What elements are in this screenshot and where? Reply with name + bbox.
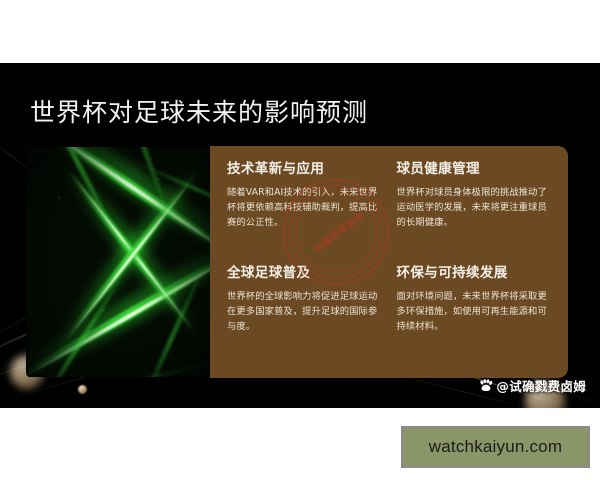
section-global: 全球足球普及 世界杯的全球影响力将促进足球运动在更多国家普及，提升足球的国际参与… — [227, 266, 385, 368]
section-body: 随着VAR和AI技术的引入，未来世界杯将更依赖高科技辅助裁判，提高比赛的公正性。 — [227, 185, 379, 230]
section-heading: 技术革新与应用 — [227, 162, 385, 177]
slide: 世界杯对足球未来的影响预测 — [0, 63, 600, 408]
sections-grid: 技术革新与应用 随着VAR和AI技术的引入，未来世界杯将更依赖高科技辅助裁判，提… — [210, 146, 568, 378]
section-body: 面对环境问题，未来世界杯将采取更多环保措施，如使用可再生能源和可持续材料。 — [397, 289, 549, 334]
url-text: watchkaiyun.com — [429, 437, 562, 457]
content-panel: 中国足球协会 技术革新与应用 随着VAR和AI技术的引入，未来世界杯将更依赖高科… — [210, 146, 568, 378]
section-sustainability: 环保与可持续发展 面对环境问题，未来世界杯将采取更多环保措施，如使用可再生能源和… — [397, 266, 555, 368]
section-heading: 环保与可持续发展 — [397, 266, 555, 281]
page-title: 世界杯对足球未来的影响预测 — [30, 93, 368, 129]
decorative-image — [26, 147, 210, 377]
handle-text: @试确戮费卤姆 — [496, 376, 586, 395]
image-vignette — [26, 147, 210, 377]
section-heading: 球员健康管理 — [397, 162, 555, 177]
section-health: 球员健康管理 世界杯对球员身体极限的挑战推动了运动医学的发展，未来将更注重球员的… — [397, 162, 555, 264]
image-content — [26, 147, 210, 377]
section-tech: 技术革新与应用 随着VAR和AI技术的引入，未来世界杯将更依赖高科技辅助裁判，提… — [227, 162, 385, 264]
url-badge[interactable]: watchkaiyun.com — [401, 426, 590, 468]
section-heading: 全球足球普及 — [227, 266, 385, 281]
paw-icon — [479, 379, 493, 392]
watermark-handle: @试确戮费卤姆 — [479, 376, 586, 395]
section-body: 世界杯的全球影响力将促进足球运动在更多国家普及，提升足球的国际参与度。 — [227, 289, 379, 334]
section-body: 世界杯对球员身体极限的挑战推动了运动医学的发展，未来将更注重球员的长期健康。 — [397, 185, 549, 230]
